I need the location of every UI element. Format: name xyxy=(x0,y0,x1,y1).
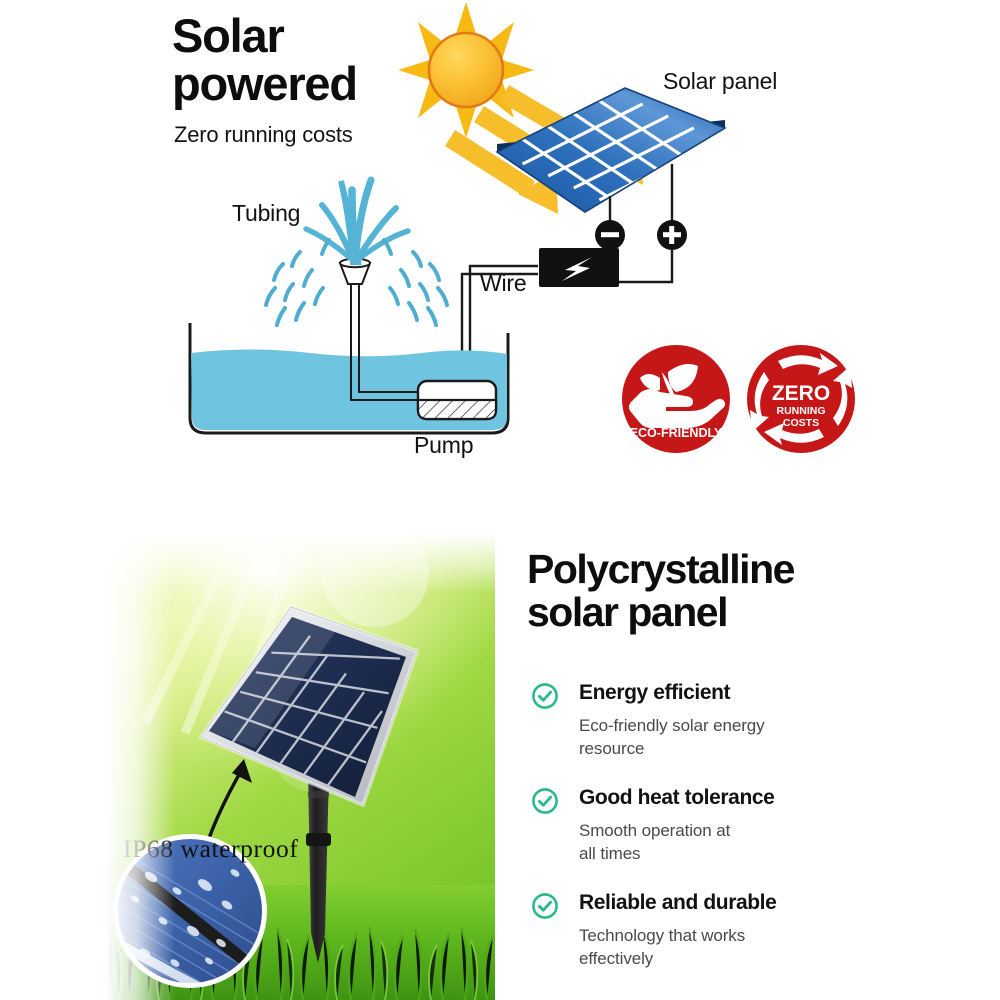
check-circle-icon xyxy=(531,682,559,710)
polycrystalline-panel-section: IP68 waterproof Polycrystalline solar pa… xyxy=(0,500,1000,1000)
product-title-line-1: Polycrystalline xyxy=(527,548,794,591)
badge-zero-label-1: ZERO xyxy=(772,382,830,405)
badge-zero-running-costs: ZERO RUNNING COSTS xyxy=(747,345,855,453)
feature-description: Eco-friendly solar energy resource xyxy=(579,714,951,760)
badge-eco-friendly-label: ECO-FRIENDLY xyxy=(630,426,723,440)
badge-zero-label-2: RUNNING xyxy=(777,405,826,417)
product-infographic-page: Solar powered Zero running costs Solar p… xyxy=(0,0,1000,1000)
product-title-line-2: solar panel xyxy=(527,591,794,634)
feature-description: Smooth operation at all times xyxy=(579,819,951,865)
solar-powered-diagram-section: Solar powered Zero running costs Solar p… xyxy=(0,0,1000,500)
feature-title: Energy efficient xyxy=(579,680,951,705)
feature-title: Good heat tolerance xyxy=(579,785,951,810)
photo-annotation-label: IP68 waterproof xyxy=(123,834,298,863)
product-photo: IP68 waterproof xyxy=(105,533,495,1000)
feature-item: Good heat tolerance Smooth operation at … xyxy=(531,785,951,865)
product-photo-scene: IP68 waterproof xyxy=(105,533,495,1000)
feature-item: Energy efficient Eco-friendly solar ener… xyxy=(531,680,951,760)
feature-title: Reliable and durable xyxy=(579,890,951,915)
certification-badges: ECO-FRIENDLY ZERO RUNNING COSTS xyxy=(0,0,1000,500)
feature-description: Technology that works effectively xyxy=(579,924,951,970)
check-circle-icon xyxy=(531,892,559,920)
badge-eco-friendly: ECO-FRIENDLY xyxy=(622,345,730,453)
feature-item: Reliable and durable Technology that wor… xyxy=(531,890,951,970)
product-title: Polycrystalline solar panel xyxy=(527,548,794,635)
badge-zero-label-3: COSTS xyxy=(783,417,819,429)
check-circle-icon xyxy=(531,787,559,815)
